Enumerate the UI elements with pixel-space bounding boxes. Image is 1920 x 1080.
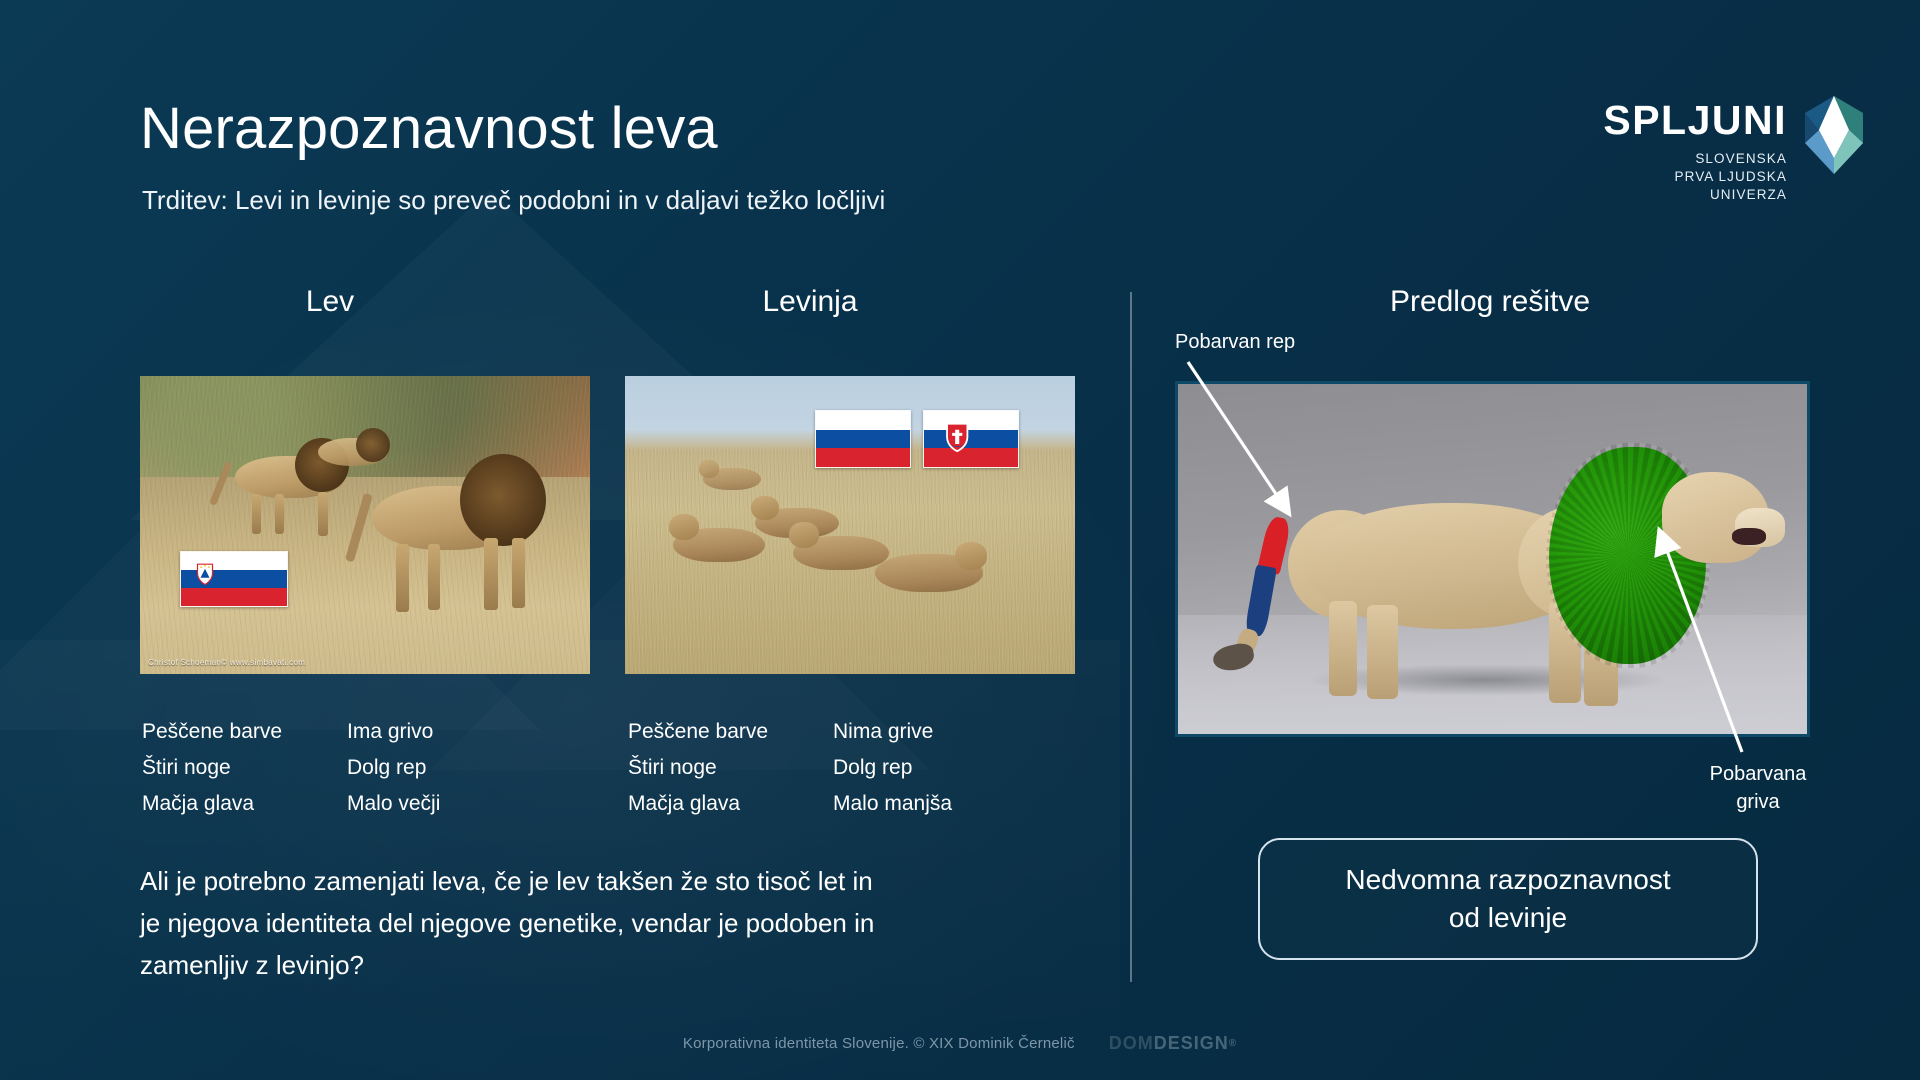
conclusion-text: Nedvomna razpoznavnost od levinje (1345, 861, 1670, 937)
list-item: Malo večji (347, 786, 440, 822)
attributes-lev: Peščene barve Štiri noge Mačja glava Ima… (142, 714, 440, 822)
studio-logo-part2: DESIGN (1154, 1033, 1229, 1054)
brand-tagline-line1: SLOVENSKA (1603, 150, 1787, 168)
brand-logo: SPLJUNI SLOVENSKA PRVA LJUDSKA UNIVERZA (1603, 95, 1865, 205)
page-title: Nerazpoznavnost leva (140, 95, 718, 162)
column-heading-lev: Lev (240, 285, 420, 319)
photo-lioness (625, 376, 1075, 674)
conclusion-line1: Nedvomna razpoznavnost (1345, 861, 1670, 899)
brand-logo-text: SPLJUNI SLOVENSKA PRVA LJUDSKA UNIVERZA (1603, 95, 1787, 205)
list-item: Mačja glava (628, 786, 833, 822)
photo-solution-lion (1175, 381, 1810, 737)
lion-mouth (1732, 528, 1767, 546)
footer-credit: Korporativna identiteta Slovenije. © XIX… (683, 1035, 1075, 1052)
list-item: Dolg rep (347, 750, 440, 786)
annotation-painted-mane: Pobarvana griva (1688, 760, 1828, 816)
brand-tagline: SLOVENSKA PRVA LJUDSKA UNIVERZA (1603, 150, 1787, 205)
conclusion-box: Nedvomna razpoznavnost od levinje (1258, 838, 1758, 960)
list-item: Štiri noge (628, 750, 833, 786)
slide-root: Nerazpoznavnost leva Trditev: Levi in le… (0, 0, 1920, 1080)
list-item: Štiri noge (142, 750, 347, 786)
question-text: Ali je potrebno zamenjati leva, če je le… (140, 860, 900, 986)
lion-leg-rear-far (1329, 601, 1357, 696)
russia-flag (815, 410, 911, 468)
studio-logo-mark: ® (1229, 1038, 1237, 1049)
list-item: Nima grive (833, 714, 952, 750)
attributes-lev-left: Peščene barve Štiri noge Mačja glava (142, 714, 347, 822)
column-heading-levinja: Levinja (700, 285, 920, 319)
brand-tagline-line3: UNIVERZA (1603, 186, 1787, 204)
vertical-divider (1130, 292, 1132, 982)
lion-leg-rear-near (1367, 605, 1398, 700)
slovenia-coat-of-arms-icon (196, 561, 214, 587)
shield-droplet-icon (1803, 95, 1865, 175)
attributes-lev-right: Ima grivo Dolg rep Malo večji (347, 714, 440, 822)
brand-tagline-line2: PRVA LJUDSKA (1603, 168, 1787, 186)
studio-logo-part1: DOM (1109, 1033, 1154, 1054)
photo-lion-scene: Christof Schoeman© www.simbavati.com (140, 376, 590, 674)
list-item: Ima grivo (347, 714, 440, 750)
photo-watermark: Christof Schoeman© www.simbavati.com (148, 658, 305, 667)
brand-name: SPLJUNI (1603, 100, 1787, 141)
attributes-levinja: Peščene barve Štiri noge Mačja glava Nim… (628, 714, 952, 822)
studio-logo: DOM DESIGN ® (1109, 1033, 1237, 1054)
photo-lioness-scene (625, 376, 1075, 674)
slovakia-coat-of-arms-icon (945, 419, 969, 455)
attributes-levinja-left: Peščene barve Štiri noge Mačja glava (628, 714, 833, 822)
annotation-painted-mane-line1: Pobarvana (1688, 760, 1828, 788)
slovakia-flag (923, 410, 1019, 468)
list-item: Dolg rep (833, 750, 952, 786)
attributes-levinja-right: Nima grive Dolg rep Malo manjša (833, 714, 952, 822)
footer: Korporativna identiteta Slovenije. © XIX… (0, 1033, 1920, 1054)
list-item: Malo manjša (833, 786, 952, 822)
list-item: Peščene barve (142, 714, 347, 750)
photo-lion: Christof Schoeman© www.simbavati.com (140, 376, 590, 674)
render-scene (1175, 381, 1810, 737)
annotation-painted-tail: Pobarvan rep (1175, 328, 1295, 356)
column-heading-predlog: Predlog rešitve (1250, 285, 1730, 319)
page-subtitle: Trditev: Levi in levinje so preveč podob… (142, 185, 885, 216)
annotation-painted-mane-line2: griva (1688, 788, 1828, 816)
slovenia-flag (180, 551, 288, 607)
list-item: Peščene barve (628, 714, 833, 750)
list-item: Mačja glava (142, 786, 347, 822)
conclusion-line2: od levinje (1345, 899, 1670, 937)
